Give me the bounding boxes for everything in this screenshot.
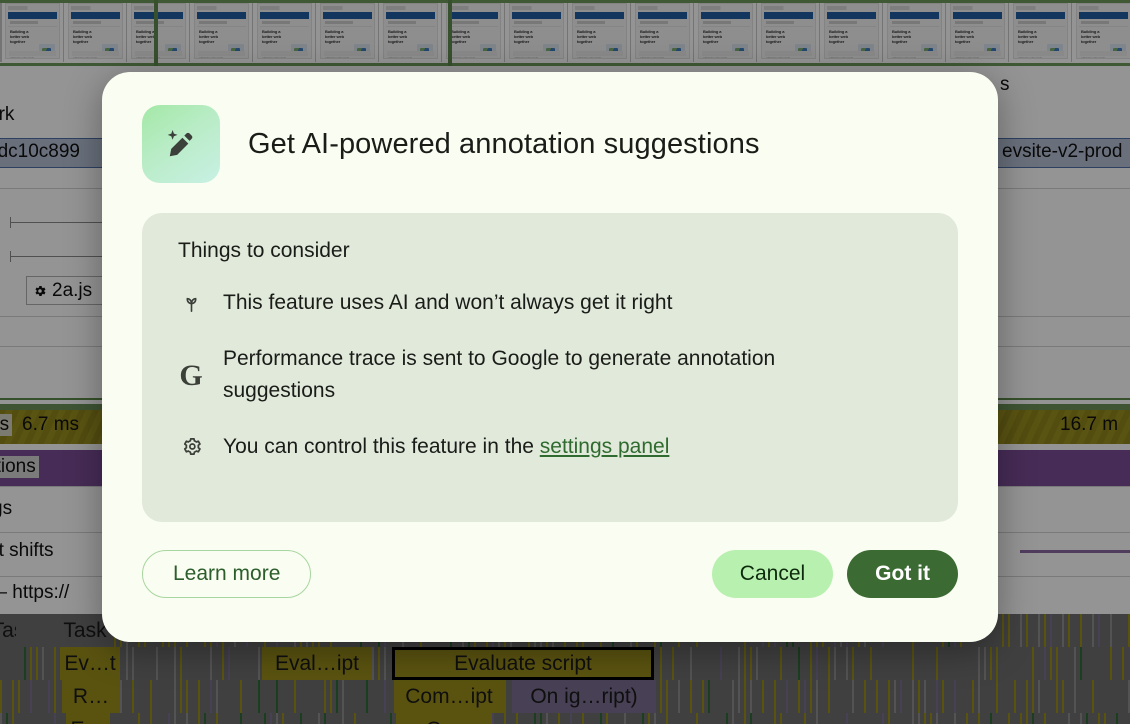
learn-more-button[interactable]: Learn more xyxy=(142,550,311,598)
dialog-actions: Learn more Cancel Got it xyxy=(142,550,958,598)
gear-icon xyxy=(178,433,204,459)
consider-item-text-before: You can control this feature in the xyxy=(223,435,540,458)
consider-item-ai-accuracy: This feature uses AI and won’t always ge… xyxy=(178,287,922,319)
consider-item-text: Performance trace is sent to Google to g… xyxy=(223,343,863,407)
settings-panel-link[interactable]: settings panel xyxy=(540,435,670,458)
consider-item-settings-control: You can control this feature in the sett… xyxy=(178,431,922,463)
card-heading: Things to consider xyxy=(178,239,922,263)
ai-annotations-onboarding-dialog: Get AI-powered annotation suggestions Th… xyxy=(102,72,998,642)
sprout-icon xyxy=(178,289,204,315)
dialog-header: Get AI-powered annotation suggestions xyxy=(142,104,958,184)
cancel-button[interactable]: Cancel xyxy=(712,550,833,598)
dialog-title: Get AI-powered annotation suggestions xyxy=(248,128,760,161)
consider-item-text: You can control this feature in the sett… xyxy=(223,431,669,463)
consider-item-text: This feature uses AI and won’t always ge… xyxy=(223,287,672,319)
things-to-consider-card: Things to consider This feature uses AI … xyxy=(142,213,958,522)
magic-pencil-icon xyxy=(142,105,220,183)
primary-actions-group: Cancel Got it xyxy=(712,550,958,598)
consider-item-trace-sent-to-google: G Performance trace is sent to Google to… xyxy=(178,343,922,407)
got-it-button[interactable]: Got it xyxy=(847,550,958,598)
google-g-icon: G xyxy=(178,363,204,389)
